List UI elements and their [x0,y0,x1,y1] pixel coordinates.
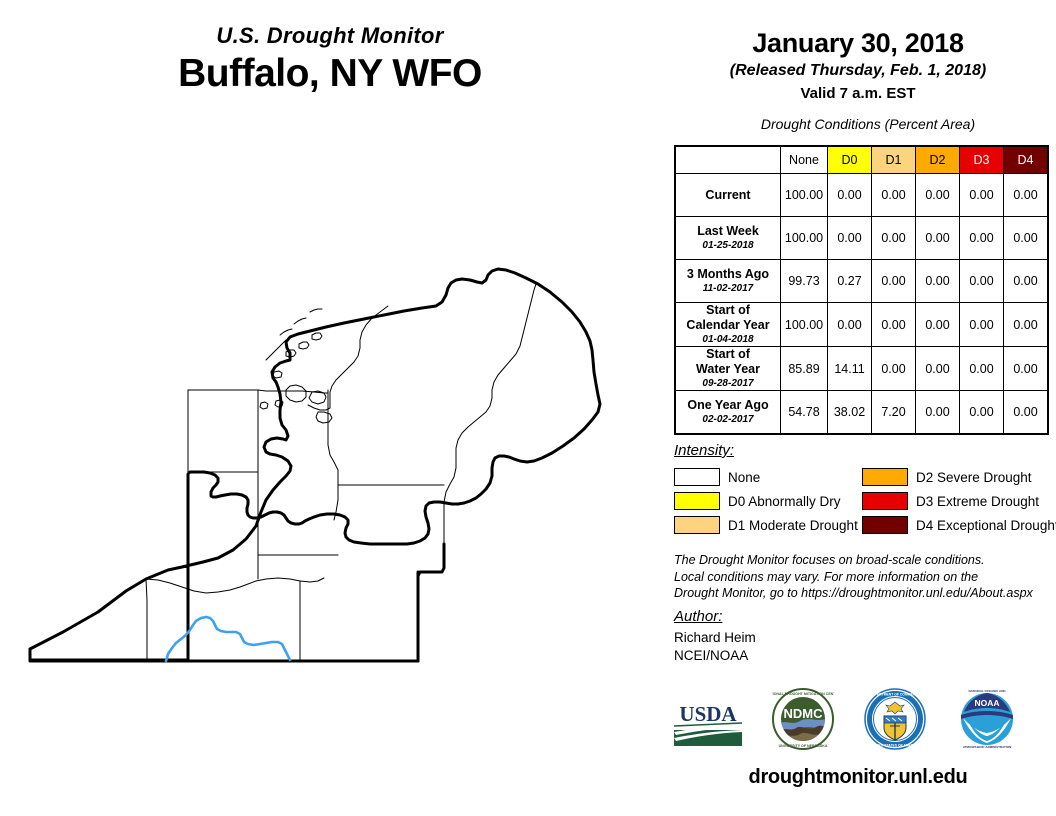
author-section-title: Author: [674,608,1054,625]
row-label-last-week: Last Week 01-25-2018 [675,217,781,260]
table-header-blank [675,146,781,174]
row-label-start-calendar-year: Start of Calendar Year 01-04-2018 [675,303,781,347]
swatch-d0 [674,492,720,510]
row-label-text-line1: Start of [706,347,750,361]
row-label-date: 01-04-2018 [676,334,780,346]
ndmc-logo[interactable]: NDMC NATIONAL DROUGHT MITIGATION CENTER … [772,688,834,755]
author-affiliation: NCEI/NOAA [674,647,1054,665]
disclaimer-line-2: Local conditions may vary. For more info… [674,569,1054,586]
intensity-legend: Intensity: None D2 Severe Drought D0 Abn… [674,442,1054,537]
legend-item-d1: D1 Moderate Drought [674,516,862,534]
legend-label-d2: D2 Severe Drought [916,470,1032,485]
cell-d4: 0.00 [1004,260,1049,303]
cell-d2: 0.00 [916,260,960,303]
drought-conditions-table-wrapper: None D0 D1 D2 D3 D4 Current 100.00 0.00 … [674,145,1044,435]
row-label-start-water-year: Start of Water Year 09-28-2017 [675,347,781,391]
cell-d0: 14.11 [828,347,872,391]
cell-none: 99.73 [781,260,828,303]
cell-d3: 0.00 [960,347,1004,391]
logo-row: USDA NDMC NATIONAL D [660,688,1056,760]
table-header-d1: D1 [872,146,916,174]
cell-d3: 0.00 [960,260,1004,303]
page-title-main: Buffalo, NY WFO [0,52,660,97]
legend-item-d3: D3 Extreme Drought [862,492,1054,510]
legend-label-d1: D1 Moderate Drought [728,518,858,533]
cell-d1: 7.20 [872,391,916,435]
legend-item-d2: D2 Severe Drought [862,468,1054,486]
cell-d2: 0.00 [916,347,960,391]
table-row: Start of Calendar Year 01-04-2018 100.00… [675,303,1048,347]
cell-none: 100.00 [781,217,828,260]
legend-label-d4: D4 Exceptional Drought [916,518,1056,533]
cell-none: 54.78 [781,391,828,435]
author-section: Author: Richard Heim NCEI/NOAA [674,608,1054,664]
cell-d3: 0.00 [960,217,1004,260]
svg-text:UNITED STATES OF AMERICA: UNITED STATES OF AMERICA [871,744,920,748]
row-label-text: One Year Ago [687,398,768,412]
commerce-seal-logo[interactable]: DEPARTMENT OF COMMERCE UNITED STATES OF … [864,688,926,755]
cell-d4: 0.00 [1004,391,1049,435]
legend-label-none: None [728,470,760,485]
cell-none: 85.89 [781,347,828,391]
svg-text:NDMC: NDMC [784,706,824,721]
cell-d2: 0.00 [916,217,960,260]
row-label-date: 09-28-2017 [676,378,780,390]
table-row: Last Week 01-25-2018 100.00 0.00 0.00 0.… [675,217,1048,260]
released-date: (Released Thursday, Feb. 1, 2018) [660,62,1056,80]
row-label-text: Current [705,188,750,202]
svg-text:ATMOSPHERIC ADMINISTRATION: ATMOSPHERIC ADMINISTRATION [963,745,1011,749]
cell-d0: 0.27 [828,260,872,303]
table-header-none: None [781,146,828,174]
usda-logo[interactable]: USDA [670,700,746,753]
table-header-d4: D4 [1004,146,1049,174]
swatch-d3 [862,492,908,510]
cell-none: 100.00 [781,303,828,347]
row-label-text: 3 Months Ago [687,267,769,281]
legend-item-none: None [674,468,862,486]
row-label-date: 11-02-2017 [676,283,780,295]
svg-text:NOAA: NOAA [974,698,999,708]
swatch-d1 [674,516,720,534]
valid-time: Valid 7 a.m. EST [660,85,1056,102]
table-header-d2: D2 [916,146,960,174]
disclaimer-line-1: The Drought Monitor focuses on broad-sca… [674,552,1054,569]
release-date: January 30, 2018 [660,28,1056,59]
map-svg [18,240,658,690]
table-row: One Year Ago 02-02-2017 54.78 38.02 7.20… [675,391,1048,435]
cell-d2: 0.00 [916,391,960,435]
row-label-text: Last Week [697,224,759,238]
swatch-d4 [862,516,908,534]
table-header-d0: D0 [828,146,872,174]
drought-map[interactable] [18,240,658,690]
cell-d1: 0.00 [872,303,916,347]
page-title-subtitle: U.S. Drought Monitor [0,24,660,48]
row-label-date: 02-02-2017 [676,414,780,426]
table-header-d3: D3 [960,146,1004,174]
cell-d1: 0.00 [872,174,916,217]
row-label-current: Current [675,174,781,217]
table-row: Current 100.00 0.00 0.00 0.00 0.00 0.00 [675,174,1048,217]
legend-label-d0: D0 Abnormally Dry [728,494,841,509]
info-panel: January 30, 2018 (Released Thursday, Feb… [660,0,1056,816]
cell-d0: 0.00 [828,174,872,217]
disclaimer-text: The Drought Monitor focuses on broad-sca… [674,552,1054,602]
table-header-row: None D0 D1 D2 D3 D4 [675,146,1048,174]
legend-label-d3: D3 Extreme Drought [916,494,1039,509]
date-header: January 30, 2018 (Released Thursday, Feb… [660,0,1056,102]
cell-d3: 0.00 [960,303,1004,347]
legend-item-d0: D0 Abnormally Dry [674,492,862,510]
swatch-none [674,468,720,486]
cell-d0: 38.02 [828,391,872,435]
cell-d3: 0.00 [960,391,1004,435]
table-caption: Drought Conditions (Percent Area) [660,116,1056,132]
row-label-3-months-ago: 3 Months Ago 11-02-2017 [675,260,781,303]
row-label-text-line2: Calendar Year [686,318,769,332]
legend-item-d4: D4 Exceptional Drought [862,516,1054,534]
cell-d2: 0.00 [916,174,960,217]
row-label-text-line2: Water Year [696,362,760,376]
cell-d4: 0.00 [1004,217,1049,260]
cell-d3: 0.00 [960,174,1004,217]
cell-d4: 0.00 [1004,347,1049,391]
cell-d0: 0.00 [828,303,872,347]
table-row: 3 Months Ago 11-02-2017 99.73 0.27 0.00 … [675,260,1048,303]
map-outer-boundary [30,269,600,660]
drought-conditions-table: None D0 D1 D2 D3 D4 Current 100.00 0.00 … [674,145,1049,435]
cell-d1: 0.00 [872,260,916,303]
cell-d1: 0.00 [872,217,916,260]
site-url[interactable]: droughtmonitor.unl.edu [660,766,1056,789]
cell-none: 100.00 [781,174,828,217]
noaa-logo[interactable]: NOAA NATIONAL OCEANIC AND ATMOSPHERIC AD… [956,688,1018,755]
cell-d4: 0.00 [1004,303,1049,347]
swatch-d2 [862,468,908,486]
author-name: Richard Heim [674,629,1054,647]
cell-d1: 0.00 [872,347,916,391]
svg-text:USDA: USDA [679,702,737,726]
svg-text:NATIONAL OCEANIC AND: NATIONAL OCEANIC AND [968,689,1006,693]
row-label-date: 01-25-2018 [676,240,780,252]
disclaimer-line-3[interactable]: Drought Monitor, go to https://droughtmo… [674,585,1054,602]
svg-text:UNIVERSITY OF NEBRASKA: UNIVERSITY OF NEBRASKA [779,744,828,748]
table-row: Start of Water Year 09-28-2017 85.89 14.… [675,347,1048,391]
svg-text:DEPARTMENT OF COMMERCE: DEPARTMENT OF COMMERCE [870,693,921,697]
svg-text:NATIONAL DROUGHT MITIGATION CE: NATIONAL DROUGHT MITIGATION CENTER [772,692,834,696]
page-title: U.S. Drought Monitor Buffalo, NY WFO [0,24,660,97]
row-label-text-line1: Start of [706,303,750,317]
cell-d0: 0.00 [828,217,872,260]
cell-d2: 0.00 [916,303,960,347]
cell-d4: 0.00 [1004,174,1049,217]
intensity-legend-title: Intensity: [674,442,1054,459]
row-label-one-year-ago: One Year Ago 02-02-2017 [675,391,781,435]
